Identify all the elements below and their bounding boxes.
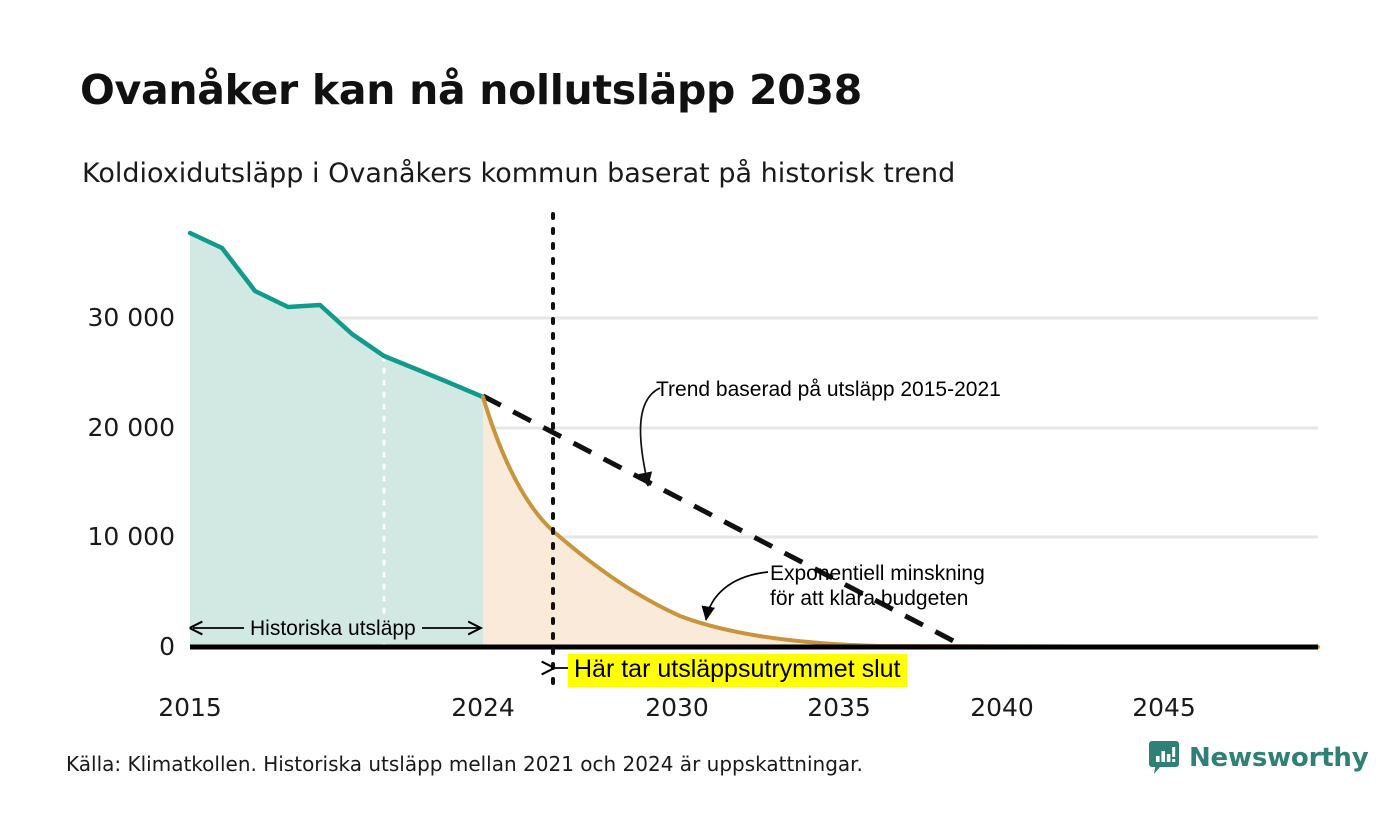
historic-area <box>190 233 483 647</box>
newsworthy-logo[interactable]: Newsworthy <box>1148 740 1368 776</box>
annotation-trend: Trend baserad på utsläpp 2015-2021 <box>656 378 1001 403</box>
x-tick-2015: 2015 <box>120 693 260 722</box>
chart-root: Ovanåker kan nå nollutsläpp 2038 Koldiox… <box>0 0 1400 840</box>
source-note: Källa: Klimatkollen. Historiska utsläpp … <box>66 752 863 776</box>
x-tick-2045: 2045 <box>1094 693 1234 722</box>
y-tick-30000: 30 000 <box>45 303 175 332</box>
y-tick-20000: 20 000 <box>45 413 175 442</box>
y-tick-0: 0 <box>45 632 175 661</box>
annotation-budget-end: Här tar utsläppsutrymmet slut <box>568 654 907 687</box>
y-tick-10000: 10 000 <box>45 522 175 551</box>
annotation-exponential-line2: för att klara budgeten <box>770 587 968 612</box>
x-tick-2030: 2030 <box>607 693 747 722</box>
x-tick-2040: 2040 <box>932 693 1072 722</box>
exponential-annotation-leader <box>706 572 768 620</box>
bar-chart-bubble-icon <box>1148 740 1180 776</box>
logo-text: Newsworthy <box>1189 743 1368 773</box>
x-tick-2035: 2035 <box>769 693 909 722</box>
annotation-historic-bracket: Historiska utsläpp <box>244 617 422 641</box>
annotation-exponential-line1: Exponentiell minskning <box>770 562 985 587</box>
x-tick-2024: 2024 <box>413 693 553 722</box>
